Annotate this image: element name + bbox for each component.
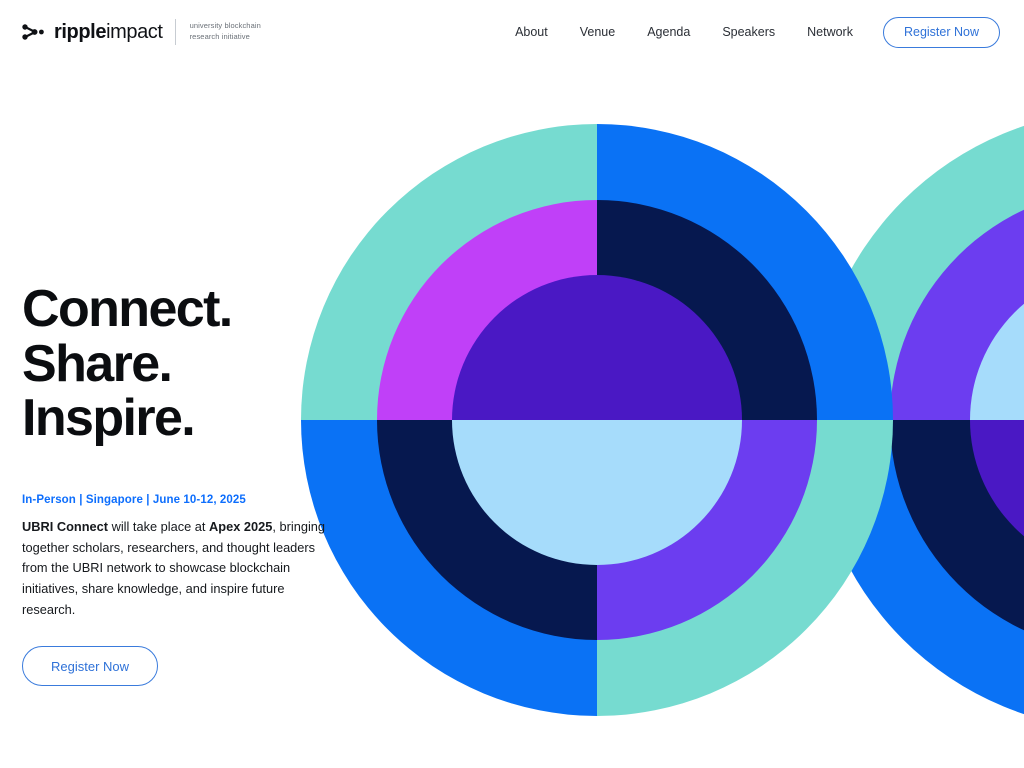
- site-header: rippleimpact university blockchain resea…: [0, 0, 1024, 64]
- hero-description-text-1: will take place at: [108, 519, 209, 534]
- hero-eyebrow-details: In-Person | Singapore | June 10-12, 2025: [22, 494, 352, 506]
- hero-description: UBRI Connect will take place at Apex 202…: [22, 517, 340, 621]
- nav-item-speakers[interactable]: Speakers: [706, 25, 791, 39]
- brand-tagline-line1: university blockchain: [190, 21, 261, 32]
- ripple-logo-icon: [22, 22, 44, 42]
- hero-headline: Connect. Share. Inspire.: [22, 282, 352, 446]
- brand-name-light: impact: [106, 21, 163, 43]
- hero-headline-line1: Connect.: [22, 282, 352, 337]
- brand-tagline-line2: research initiative: [190, 32, 261, 43]
- brand-divider: [175, 19, 176, 45]
- left-ring-group: [301, 124, 893, 716]
- main-nav: About Venue Agenda Speakers Network Regi…: [499, 17, 1000, 48]
- hero-description-bold-venue: Apex 2025: [209, 519, 272, 534]
- brand-tagline: university blockchain research initiativ…: [190, 21, 261, 43]
- hero-headline-line2: Share. Inspire.: [22, 337, 352, 446]
- nav-item-venue[interactable]: Venue: [564, 25, 631, 39]
- brand-logo[interactable]: rippleimpact university blockchain resea…: [22, 19, 261, 45]
- nav-item-network[interactable]: Network: [791, 25, 869, 39]
- register-now-nav-button[interactable]: Register Now: [883, 17, 1000, 48]
- register-now-hero-button[interactable]: Register Now: [22, 646, 158, 686]
- nav-item-about[interactable]: About: [499, 25, 564, 39]
- brand-name-bold: ripple: [54, 21, 106, 43]
- hero-section: Connect. Share. Inspire. In-Person | Sin…: [22, 282, 352, 686]
- nav-item-agenda[interactable]: Agenda: [631, 25, 706, 39]
- hero-description-bold-event: UBRI Connect: [22, 519, 108, 534]
- brand-wordmark: rippleimpact: [54, 22, 163, 42]
- right-ring-group: [812, 110, 1024, 730]
